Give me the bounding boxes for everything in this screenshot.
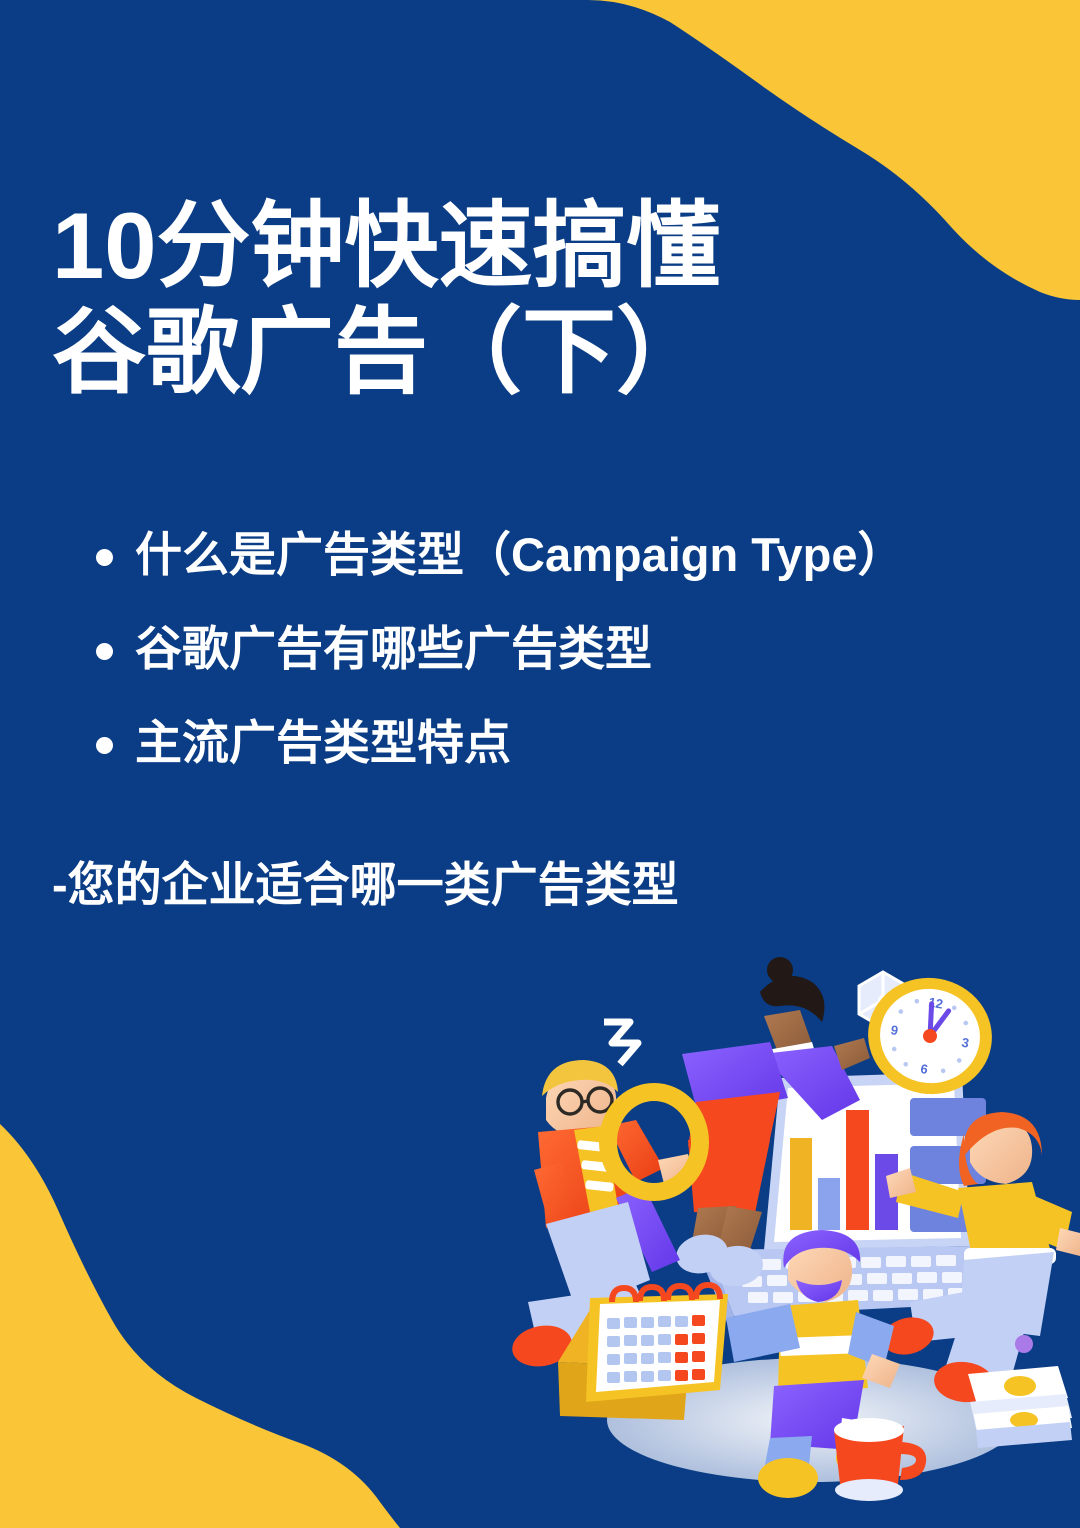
bullet-list: 什么是广告类型（Campaign Type） 谷歌广告有哪些广告类型 主流广告类… [96, 528, 1026, 810]
zigzag-ornament-icon [604, 1022, 638, 1064]
bullet-dot-icon [96, 643, 113, 660]
chart-bar [846, 1110, 869, 1230]
list-item-label: 什么是广告类型（Campaign Type） [135, 528, 904, 582]
bullet-dot-icon [96, 549, 113, 566]
teamwork-illustration: 12 3 6 9 [512, 950, 1080, 1510]
shoe [758, 1458, 818, 1498]
sphere-ornament [1015, 1335, 1033, 1353]
list-item-label: 谷歌广告有哪些广告类型 [135, 622, 652, 676]
bullet-dot-icon [96, 737, 113, 754]
list-item: 谷歌广告有哪些广告类型 [96, 622, 1026, 676]
chart-bar [818, 1178, 840, 1230]
dash-list-item: -您的企业适合哪一类广告类型 [52, 846, 679, 915]
page-title: 10分钟快速搞懂 谷歌广告（下） [52, 193, 952, 405]
list-item-label: 主流广告类型特点 [135, 716, 511, 770]
list-item: 主流广告类型特点 [96, 716, 1026, 770]
decorative-shape-bottom-left [0, 1098, 480, 1528]
chart-bar [790, 1138, 812, 1230]
poster-root: 10分钟快速搞懂 谷歌广告（下） 什么是广告类型（Campaign Type） … [0, 0, 1080, 1528]
list-item: 什么是广告类型（Campaign Type） [96, 528, 1026, 582]
